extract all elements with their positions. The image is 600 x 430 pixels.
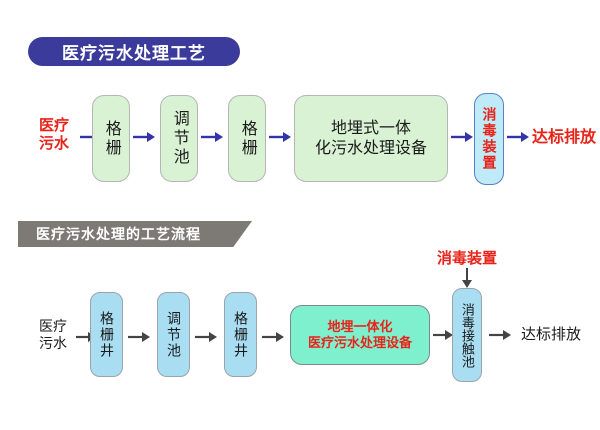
top-arrow-4 [269, 130, 291, 144]
bottom-node-buried-integrated-equipment-line2: 医疗污水处理设备 [308, 335, 412, 351]
top-flow-output-label: 达标排放 [530, 128, 598, 147]
bottom-section-title-banner: 医疗污水处理的工艺流程 [18, 221, 252, 247]
top-node-disinfection-device-label: 消毒装置 [480, 107, 497, 171]
bottom-node-grid-well-2-label: 格栅井 [232, 311, 249, 359]
bottom-node-grid-well-2[interactable]: 格栅井 [224, 292, 257, 377]
bottom-arrow-4 [262, 330, 284, 344]
bottom-node-buried-integrated-equipment[interactable]: 地埋一体化 医疗污水处理设备 [290, 305, 430, 365]
bottom-node-disinfection-contact-tank[interactable]: 消毒接触池 [452, 288, 482, 382]
top-node-buried-integrated-equipment-line1: 地埋式一体 [331, 119, 411, 139]
bottom-disinfection-device-annotation: 消毒装置 [425, 250, 509, 268]
top-section-title-banner: 医疗污水处理工艺 [28, 37, 240, 66]
bottom-section-title-text: 医疗污水处理的工艺流程 [36, 224, 201, 244]
bottom-flow-output-label: 达标排放 [516, 326, 586, 344]
top-node-grid-2-label: 格栅 [237, 120, 257, 158]
bottom-flow-input-label: 医疗 污水 [30, 318, 76, 352]
bottom-arrow-3 [195, 330, 217, 344]
diagram-canvas: 医疗污水处理工艺 医疗 污水 格栅 调节池 格栅 [0, 0, 600, 430]
top-arrow-6 [507, 130, 529, 144]
top-node-grid-1-label: 格栅 [101, 120, 121, 158]
top-node-grid-1[interactable]: 格栅 [92, 95, 130, 182]
bottom-flow-input-label-line2: 污水 [30, 335, 76, 352]
top-arrow-2 [133, 130, 155, 144]
bottom-node-buried-integrated-equipment-line1: 地埋一体化 [327, 319, 392, 335]
top-node-equalization-tank-label: 调节池 [169, 110, 189, 167]
top-flow-input-label-line1: 医疗 [28, 117, 80, 135]
bottom-node-disinfection-contact-tank-label: 消毒接触池 [459, 303, 475, 368]
top-section-title-text: 医疗污水处理工艺 [62, 39, 206, 64]
bottom-arrow-2 [128, 330, 150, 344]
top-arrow-3 [201, 130, 223, 144]
bottom-node-equalization-tank[interactable]: 调节池 [157, 292, 190, 377]
top-node-buried-integrated-equipment-line2: 化污水处理设备 [315, 139, 427, 159]
bottom-node-grid-well-1[interactable]: 格栅井 [90, 292, 123, 377]
top-node-grid-2[interactable]: 格栅 [228, 95, 266, 182]
top-arrow-5 [451, 130, 473, 144]
top-node-buried-integrated-equipment[interactable]: 地埋式一体 化污水处理设备 [294, 95, 448, 182]
top-node-disinfection-device[interactable]: 消毒装置 [474, 93, 504, 185]
bottom-arrow-5 [433, 328, 453, 342]
bottom-node-equalization-tank-label: 调节池 [165, 311, 182, 359]
bottom-annotation-down-arrow [459, 268, 475, 288]
top-flow-input-label-line2: 污水 [28, 135, 80, 153]
top-node-equalization-tank[interactable]: 调节池 [160, 95, 198, 182]
bottom-node-grid-well-1-label: 格栅井 [98, 311, 115, 359]
top-flow-input-label: 医疗 污水 [28, 117, 80, 153]
bottom-flow-input-label-line1: 医疗 [30, 318, 76, 335]
bottom-arrow-6 [489, 328, 511, 342]
